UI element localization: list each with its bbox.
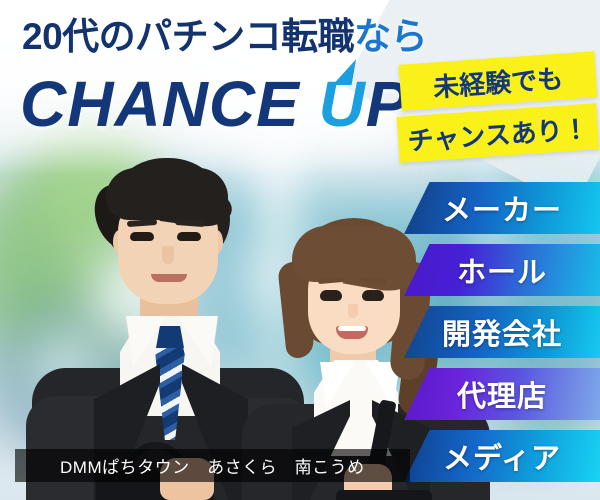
category-label-hall: ホール: [457, 249, 547, 291]
category-label-media: メディア: [443, 435, 561, 477]
headline-suffix: なら: [354, 16, 427, 57]
man-fringe: [106, 168, 228, 220]
man-mouth: [151, 274, 187, 282]
woman-eye-left: [320, 290, 342, 301]
category-label-developer: 開発会社: [442, 311, 562, 353]
woman-nose: [348, 304, 358, 318]
category-banner-developer[interactable]: 開発会社: [404, 306, 600, 358]
caption-text: DMMぱちタウン あさくら 南こうめ: [60, 453, 365, 478]
logo-u-letter: U: [319, 72, 366, 136]
badge-inexperienced-label: 未経験でも: [432, 58, 564, 104]
category-banner-agency[interactable]: 代理店: [404, 368, 600, 420]
category-label-agency: 代理店: [457, 373, 547, 415]
man-eye-right: [177, 232, 201, 241]
category-banner-hall[interactable]: ホール: [404, 244, 600, 296]
headline: 20代のパチンコ転職なら: [22, 18, 422, 55]
category-banner-media[interactable]: メディア: [404, 430, 600, 482]
woman-teeth: [338, 326, 366, 331]
man-eye-left: [130, 232, 154, 241]
woman-bag: [336, 490, 432, 500]
woman-fringe: [292, 226, 416, 282]
caption-bar: DMMぱちタウン あさくら 南こうめ: [15, 449, 410, 482]
badge-chance-label: チャンスあり！: [406, 108, 589, 158]
woman-eye-right: [362, 290, 384, 301]
category-banner-maker[interactable]: メーカー: [404, 182, 600, 234]
logo-chance: CHANCE: [20, 68, 319, 140]
logo-chance-up: CHANCE UP: [20, 72, 409, 136]
advertisement-banner[interactable]: 20代のパチンコ転職なら CHANCE UP 未経験でも チャンスあり！ メーカ…: [0, 0, 600, 500]
man-nose: [162, 246, 174, 264]
man-tie-knot: [156, 326, 184, 348]
headline-main: 20代のパチンコ転職: [22, 16, 354, 57]
category-label-maker: メーカー: [442, 187, 562, 229]
